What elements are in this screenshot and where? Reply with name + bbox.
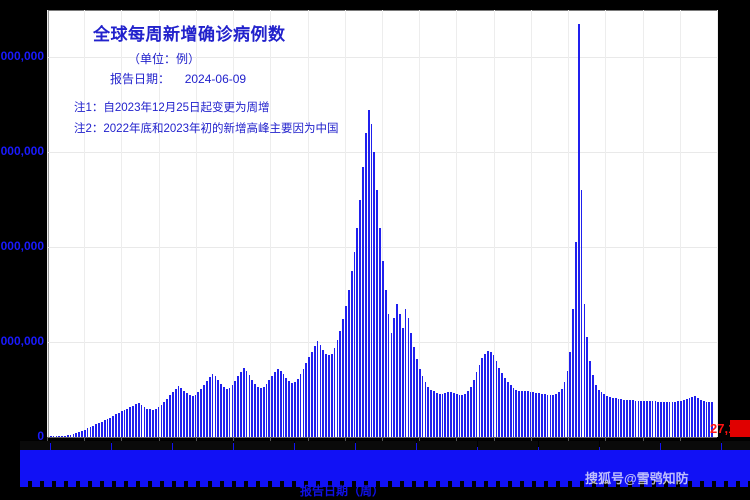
- y-axis-tick-label: 10,000,000: [0, 334, 44, 348]
- bar: [334, 348, 336, 437]
- x-label-tooth: [404, 441, 410, 450]
- bar: [447, 392, 449, 437]
- bar: [683, 400, 685, 437]
- x-label-tooth: [32, 441, 38, 450]
- bar: [98, 423, 100, 437]
- x-label-tooth: [185, 441, 191, 450]
- x-label-tooth: [81, 441, 87, 450]
- bar: [348, 290, 350, 437]
- x-label-tooth: [282, 441, 288, 450]
- bar: [285, 378, 287, 437]
- x-label-tooth: [526, 441, 532, 450]
- bar: [391, 333, 393, 437]
- bar: [220, 384, 222, 437]
- bar: [561, 389, 563, 437]
- x-label-tooth: [478, 441, 484, 450]
- bar: [609, 397, 611, 437]
- x-label-tooth: [38, 441, 44, 450]
- bar: [581, 190, 583, 437]
- x-label-tooth: [600, 441, 606, 450]
- gridline-vertical: [717, 10, 718, 437]
- x-label-tooth: [624, 441, 630, 450]
- bar: [246, 371, 248, 437]
- x-label-tooth: [227, 441, 233, 450]
- x-label-tooth: [20, 441, 26, 450]
- bar: [399, 314, 401, 437]
- x-label-tooth: [410, 441, 416, 450]
- bar: [584, 304, 586, 437]
- bar: [544, 394, 546, 437]
- bar: [249, 375, 251, 437]
- bar: [527, 391, 529, 437]
- bar: [294, 382, 296, 437]
- bar: [691, 397, 693, 437]
- bar: [442, 394, 444, 437]
- bar: [138, 403, 140, 437]
- bar: [356, 228, 358, 437]
- bar: [379, 228, 381, 437]
- bar: [700, 400, 702, 437]
- x-label-tooth: [270, 441, 276, 450]
- bar: [521, 391, 523, 437]
- bar: [706, 402, 708, 437]
- bar: [632, 400, 634, 437]
- x-label-tooth: [386, 441, 392, 450]
- bar: [240, 372, 242, 437]
- x-label-tooth: [191, 441, 197, 450]
- x-label-tooth: [398, 441, 404, 450]
- bar: [575, 242, 577, 437]
- x-label-tooth: [679, 441, 685, 450]
- bar: [555, 394, 557, 437]
- bar: [217, 380, 219, 437]
- x-label-tooth: [57, 441, 63, 450]
- bar: [178, 386, 180, 437]
- bar: [172, 392, 174, 437]
- x-label-tooth: [593, 441, 599, 450]
- bar: [640, 401, 642, 437]
- x-label-tooth: [374, 441, 380, 450]
- x-label-tooth: [112, 441, 118, 450]
- bar: [532, 392, 534, 437]
- bar: [268, 380, 270, 437]
- x-label-tooth: [307, 441, 313, 450]
- report-date-value: 2024-06-09: [185, 72, 246, 86]
- bar: [657, 402, 659, 437]
- bar: [146, 409, 148, 437]
- bar: [305, 363, 307, 437]
- x-label-tooth: [343, 441, 349, 450]
- x-axis-caption: 报告日期（周）: [300, 482, 384, 499]
- bar: [686, 399, 688, 437]
- bar: [606, 396, 608, 437]
- x-label-tooth: [362, 441, 368, 450]
- bar: [385, 290, 387, 437]
- bar: [530, 392, 532, 437]
- bar: [592, 375, 594, 437]
- bar: [439, 394, 441, 437]
- x-label-tooth: [87, 441, 93, 450]
- bar: [663, 402, 665, 437]
- bar: [459, 395, 461, 437]
- bar: [112, 416, 114, 437]
- bar: [317, 341, 319, 437]
- bar: [288, 381, 290, 437]
- bar: [118, 413, 120, 437]
- x-label-tooth: [93, 441, 99, 450]
- x-label-tooth: [331, 441, 337, 450]
- bar: [538, 393, 540, 437]
- note-line-1: 注1：自2023年12月25日起变更为周增: [74, 99, 270, 115]
- bar: [595, 385, 597, 437]
- bar: [578, 24, 580, 437]
- x-label-tooth: [734, 441, 740, 450]
- x-label-tooth: [606, 441, 612, 450]
- bar: [598, 390, 600, 437]
- x-label-tooth: [618, 441, 624, 450]
- bar: [121, 411, 123, 437]
- bar: [124, 410, 126, 437]
- x-label-tooth: [465, 441, 471, 450]
- y-axis-tick-label: 40,000,000: [0, 49, 44, 63]
- bar: [232, 385, 234, 437]
- x-label-tooth: [356, 441, 362, 450]
- bar: [345, 306, 347, 437]
- bar: [669, 402, 671, 437]
- bar: [518, 391, 520, 437]
- bar: [510, 385, 512, 437]
- x-label-tooth: [673, 441, 679, 450]
- bar: [660, 402, 662, 437]
- bar: [564, 382, 566, 437]
- bar: [237, 376, 239, 437]
- bar: [203, 385, 205, 437]
- x-label-tooth: [166, 441, 172, 450]
- bar: [672, 402, 674, 437]
- bar: [697, 398, 699, 437]
- last-value-clip-block: [730, 420, 750, 437]
- x-label-tooth: [435, 441, 441, 450]
- x-label-tooth: [99, 441, 105, 450]
- bar: [274, 372, 276, 437]
- x-label-tooth: [557, 441, 563, 450]
- x-label-tooth: [746, 441, 750, 450]
- bar: [101, 422, 103, 437]
- bar: [260, 388, 262, 437]
- bar: [229, 388, 231, 437]
- bar: [547, 395, 549, 437]
- x-label-tooth: [636, 441, 642, 450]
- bar: [643, 401, 645, 437]
- x-label-tooth: [63, 441, 69, 450]
- bar: [373, 152, 375, 437]
- x-label-tooth: [392, 441, 398, 450]
- bar: [92, 426, 94, 437]
- bar: [200, 389, 202, 437]
- x-label-tooth: [447, 441, 453, 450]
- bar: [155, 409, 157, 437]
- bar: [629, 400, 631, 437]
- bar: [620, 399, 622, 437]
- bar: [243, 368, 245, 437]
- bar: [331, 354, 333, 438]
- x-label-tooth: [642, 441, 648, 450]
- bar: [328, 355, 330, 437]
- x-label-tooth: [276, 441, 282, 450]
- x-label-tooth: [252, 441, 258, 450]
- bar: [470, 387, 472, 437]
- x-label-tooth: [142, 441, 148, 450]
- watermark: 搜狐号@雪鸮知防: [585, 468, 689, 487]
- bar: [623, 400, 625, 437]
- x-label-tooth: [136, 441, 142, 450]
- bar: [149, 409, 151, 437]
- bar: [507, 382, 509, 437]
- bar: [263, 387, 265, 437]
- x-label-tooth: [740, 441, 746, 450]
- bar: [618, 399, 620, 437]
- bar: [567, 371, 569, 437]
- bar: [601, 392, 603, 437]
- bar: [161, 405, 163, 437]
- bar: [351, 271, 353, 437]
- bar: [342, 319, 344, 437]
- x-label-tooth: [703, 441, 709, 450]
- bar: [320, 345, 322, 437]
- bar: [283, 374, 285, 437]
- bar: [504, 378, 506, 437]
- x-label-tooth: [264, 441, 270, 450]
- x-label-tooth: [563, 441, 569, 450]
- bar: [163, 402, 165, 437]
- x-label-tooth: [380, 441, 386, 450]
- x-label-tooth: [508, 441, 514, 450]
- bar: [652, 401, 654, 437]
- bar: [703, 401, 705, 437]
- bar: [496, 361, 498, 437]
- bar: [314, 346, 316, 437]
- x-label-tooth: [215, 441, 221, 450]
- x-label-tooth: [453, 441, 459, 450]
- bar: [569, 352, 571, 437]
- bar: [257, 387, 259, 437]
- bar: [144, 407, 146, 437]
- x-label-tooth: [630, 441, 636, 450]
- chart-title: 全球每周新增确诊病例数: [93, 20, 286, 45]
- x-label-tooth: [728, 441, 734, 450]
- bar: [586, 337, 588, 437]
- bar: [84, 430, 86, 437]
- x-label-tooth: [514, 441, 520, 450]
- bar: [135, 404, 137, 437]
- bar: [308, 357, 310, 437]
- bar: [464, 394, 466, 437]
- bar: [359, 200, 361, 437]
- bar: [535, 393, 537, 437]
- bar: [322, 350, 324, 437]
- x-label-tooth: [75, 441, 81, 450]
- bar: [416, 359, 418, 437]
- bar: [382, 261, 384, 437]
- bar: [371, 124, 373, 437]
- bar: [433, 391, 435, 437]
- bar: [498, 368, 500, 437]
- bar: [612, 398, 614, 437]
- bar: [337, 340, 339, 437]
- report-date: 报告日期： 2024-06-09: [110, 70, 246, 87]
- bar: [104, 420, 106, 437]
- x-label-tooth: [258, 441, 264, 450]
- x-label-tooth: [44, 441, 50, 450]
- report-date-label: 报告日期：: [110, 72, 170, 86]
- x-label-tooth: [496, 441, 502, 450]
- bar: [430, 390, 432, 437]
- bar: [674, 402, 676, 437]
- bar: [197, 392, 199, 437]
- x-label-tooth: [502, 441, 508, 450]
- bar: [444, 393, 446, 437]
- bar: [450, 392, 452, 437]
- bar: [655, 401, 657, 437]
- x-label-tooth: [667, 441, 673, 450]
- bar: [515, 390, 517, 437]
- x-label-tooth: [459, 441, 465, 450]
- bar: [300, 374, 302, 437]
- bar: [473, 380, 475, 437]
- bar: [152, 410, 154, 437]
- bar: [192, 396, 194, 437]
- x-label-tooth: [685, 441, 691, 450]
- bar: [129, 407, 131, 437]
- x-label-tooth: [26, 441, 32, 450]
- x-label-tooth: [539, 441, 545, 450]
- x-label-tooth: [325, 441, 331, 450]
- bar: [646, 401, 648, 437]
- x-label-tooth: [337, 441, 343, 450]
- x-label-tooth: [154, 441, 160, 450]
- bar: [410, 333, 412, 437]
- x-label-tooth: [490, 441, 496, 450]
- bar: [425, 382, 427, 437]
- bar: [405, 309, 407, 437]
- x-label-tooth: [715, 441, 721, 450]
- bar: [183, 391, 185, 437]
- bar: [436, 393, 438, 437]
- bar: [487, 351, 489, 437]
- x-label-tooth: [118, 441, 124, 450]
- x-label-tooth: [709, 441, 715, 450]
- bar: [388, 314, 390, 437]
- x-label-tooth: [69, 441, 75, 450]
- bar: [476, 372, 478, 437]
- bar: [303, 369, 305, 437]
- bar: [376, 190, 378, 437]
- bar: [107, 419, 109, 437]
- bar: [169, 395, 171, 437]
- bar: [649, 401, 651, 437]
- bar: [206, 381, 208, 437]
- bar: [572, 309, 574, 437]
- y-axis-tick-label: 20,000,000: [0, 239, 44, 253]
- bar: [251, 380, 253, 437]
- bar: [493, 355, 495, 437]
- x-label-tooth: [124, 441, 130, 450]
- bar: [189, 395, 191, 437]
- bar: [402, 328, 404, 437]
- bar: [141, 405, 143, 437]
- x-label-tooth: [203, 441, 209, 450]
- x-label-tooth: [319, 441, 325, 450]
- bar: [87, 428, 89, 437]
- bar: [638, 401, 640, 437]
- bar: [490, 352, 492, 437]
- bar: [479, 365, 481, 437]
- x-label-tooth: [51, 441, 57, 450]
- x-label-tooth: [234, 441, 240, 450]
- bar: [626, 400, 628, 437]
- x-label-tooth: [221, 441, 227, 450]
- bar: [666, 402, 668, 437]
- bar: [456, 394, 458, 437]
- bar: [180, 388, 182, 437]
- x-label-tooth: [148, 441, 154, 450]
- bar: [393, 318, 395, 437]
- bar: [680, 401, 682, 437]
- x-label-tooth: [240, 441, 246, 450]
- x-label-tooth: [520, 441, 526, 450]
- bar: [422, 376, 424, 437]
- bar: [467, 391, 469, 437]
- x-label-tooth: [105, 441, 111, 450]
- bar: [126, 409, 128, 437]
- bar: [484, 354, 486, 438]
- x-label-tooth: [612, 441, 618, 450]
- bar: [552, 395, 554, 437]
- x-label-tooth: [569, 441, 575, 450]
- x-label-tooth: [551, 441, 557, 450]
- x-label-tooth: [197, 441, 203, 450]
- bar: [339, 331, 341, 437]
- bar: [195, 395, 197, 437]
- bar: [524, 391, 526, 437]
- y-axis-tick-label: 30,000,000: [0, 144, 44, 158]
- bar: [558, 392, 560, 437]
- x-label-tooth: [484, 441, 490, 450]
- x-label-tooth: [130, 441, 136, 450]
- bar: [297, 379, 299, 437]
- bar: [427, 387, 429, 437]
- bar: [277, 369, 279, 437]
- bar: [223, 387, 225, 437]
- x-label-tooth: [173, 441, 179, 450]
- bar: [166, 399, 168, 437]
- bar: [186, 393, 188, 437]
- bar: [419, 369, 421, 437]
- x-label-tooth: [209, 441, 215, 450]
- x-label-tooth: [648, 441, 654, 450]
- bar: [453, 393, 455, 437]
- bar: [362, 167, 364, 437]
- x-label-tooth: [368, 441, 374, 450]
- x-label-tooth: [423, 441, 429, 450]
- bar: [109, 418, 111, 437]
- chart-subtitle: （单位：例）: [128, 50, 200, 67]
- x-label-tooth: [301, 441, 307, 450]
- x-label-tooth: [349, 441, 355, 450]
- bar: [541, 394, 543, 437]
- x-label-tooth: [288, 441, 294, 450]
- bar: [689, 398, 691, 437]
